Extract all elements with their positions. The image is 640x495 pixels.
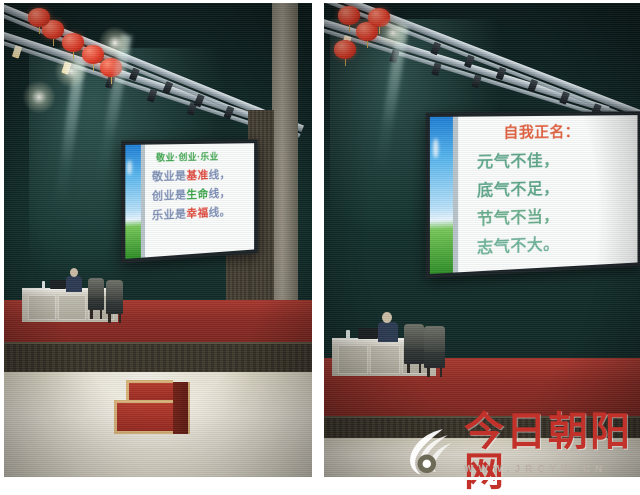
slide-line: 志气不大。	[477, 226, 631, 257]
site-watermark: 今日朝阳网 WWW.JRCYW.CN	[404, 412, 640, 492]
slide-surface: 自我正名： 元气不佳， 底气不足， 节气不当， 志气不大。	[430, 115, 638, 274]
red-lantern	[62, 33, 84, 52]
frame-top-edge	[0, 0, 640, 3]
slide-line-emphasis: 幸福	[186, 207, 208, 220]
slide-surface: 敬业·创业·乐业 敬业是基准线， 创业是生命线， 乐业是幸福线。	[125, 143, 254, 259]
slide-line-prefix: 敬业是	[152, 170, 186, 183]
table-front-panel	[28, 295, 56, 320]
photo-panel-left: 敬业·创业·乐业 敬业是基准线， 创业是生命线， 乐业是幸福线。	[4, 0, 312, 480]
water-bottle	[346, 330, 350, 339]
slide-content: 自我正名： 元气不佳， 底气不足， 节气不当， 志气不大。	[458, 115, 637, 272]
projection-screen-right: 自我正名： 元气不佳， 底气不足， 节气不当， 志气不大。	[426, 111, 640, 278]
slide-line-emphasis: 基准	[186, 169, 208, 182]
slide-line-emphasis: 生命	[186, 188, 208, 201]
chair-backrest	[404, 324, 424, 349]
frame-left-edge	[0, 0, 4, 480]
red-lantern	[334, 40, 356, 59]
seated-speaker-body	[66, 276, 82, 292]
chair-leg	[407, 363, 410, 373]
office-chair	[424, 326, 445, 368]
seated-speaker-head	[382, 312, 392, 323]
projection-screen-left: 敬业·创业·乐业 敬业是基准线， 创业是生命线， 乐业是幸福线。	[121, 139, 258, 263]
slide-line-suffix: 线。	[209, 206, 231, 219]
watermark-text: 今日朝阳网	[464, 412, 640, 492]
slide-line: 敬业是基准线，	[152, 165, 250, 184]
office-chair	[106, 280, 123, 314]
chair-backrest	[88, 278, 104, 298]
red-lantern	[28, 8, 50, 27]
chair-leg	[119, 313, 122, 323]
step-lower	[114, 400, 173, 434]
chair-leg	[419, 363, 422, 373]
table-front-panel	[338, 345, 368, 374]
chair-backrest	[106, 280, 123, 301]
slide-line-prefix: 创业是	[152, 189, 186, 203]
chair-leg	[100, 309, 103, 319]
slide-line: 创业是生命线，	[152, 183, 250, 203]
office-chair	[404, 324, 424, 364]
slide-line-prefix: 乐业是	[152, 208, 186, 222]
slide-line: 元气不佳，	[477, 145, 631, 172]
slide-line: 节气不当，	[477, 199, 631, 229]
seated-speaker-head	[70, 268, 78, 277]
panel-divider	[312, 0, 324, 480]
red-lantern	[368, 8, 390, 27]
chair-leg	[440, 367, 443, 377]
chair-leg	[90, 309, 93, 319]
chair-leg	[108, 313, 111, 323]
red-lantern	[338, 6, 360, 25]
slide-heading: 敬业·创业·乐业	[152, 149, 250, 164]
slide-line: 底气不足，	[477, 172, 631, 201]
slide-heading: 自我正名：	[477, 120, 631, 143]
laptop	[358, 328, 378, 339]
slide-content: 敬业·创业·乐业 敬业是基准线， 创业是生命线， 乐业是幸福线。	[145, 143, 254, 257]
seated-speaker-body	[378, 322, 398, 342]
table-front-panel	[370, 345, 400, 374]
chair-leg	[427, 367, 430, 377]
screenshot-root: 敬业·创业·乐业 敬业是基准线， 创业是生命线， 乐业是幸福线。	[0, 0, 640, 480]
laptop	[50, 280, 66, 289]
slide-text-block: 敬业·创业·乐业 敬业是基准线， 创业是生命线， 乐业是幸福线。	[152, 149, 250, 223]
flame-logo-icon	[404, 425, 458, 479]
water-bottle	[42, 281, 45, 289]
office-chair	[88, 278, 104, 310]
table-front-panel	[58, 295, 86, 320]
slide-sidebar-gradient	[125, 145, 141, 259]
slide-line-suffix: 线，	[209, 187, 231, 200]
slide-line-suffix: 线，	[209, 168, 231, 180]
slide-text-block: 自我正名： 元气不佳， 底气不足， 节气不当， 志气不大。	[477, 120, 631, 258]
slide-line: 乐业是幸福线。	[152, 202, 250, 223]
watermark-url: WWW.JRCYW.CN	[464, 464, 607, 475]
chair-backrest	[424, 326, 445, 352]
slide-sidebar-gradient	[430, 117, 453, 274]
